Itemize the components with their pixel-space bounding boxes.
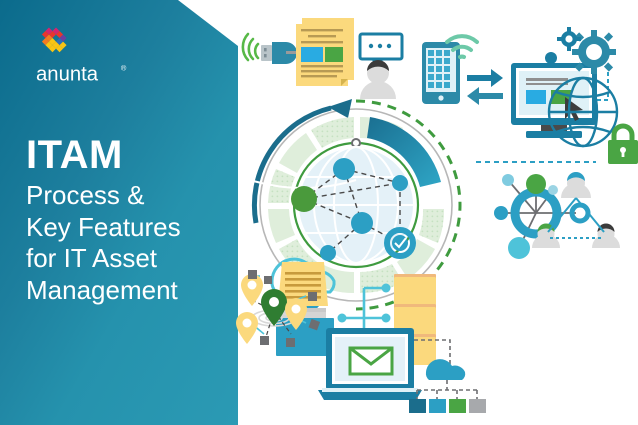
endpoint-2: [429, 399, 446, 413]
node-green: [291, 186, 317, 212]
node-bottom: [320, 245, 336, 261]
wordmark-text: anunta: [36, 63, 99, 85]
infographic-canvas: anunta ® ITAM Process & Key Features for…: [0, 0, 638, 425]
title-panel: anunta ® ITAM Process & Key Features for…: [0, 0, 238, 425]
headline-block: ITAM Process & Key Features for IT Asset…: [26, 134, 232, 306]
hub-node-2: [548, 185, 558, 195]
lifecycle-arrow-head: [328, 99, 352, 118]
exchange-arrows-icon: [467, 69, 503, 105]
page-title: ITAM: [26, 134, 232, 176]
hub-node-3: [494, 206, 508, 220]
laptop-email-icon: [318, 328, 422, 400]
documents-report-icon: [296, 18, 354, 86]
map-pin-yellow-2: [236, 312, 258, 344]
illustration-svg: [236, 0, 638, 425]
node-top: [333, 158, 355, 180]
illustration-area: [236, 0, 638, 425]
envelope-icon: [350, 348, 392, 374]
folder-1: [394, 274, 436, 305]
hub-node-green: [526, 174, 546, 194]
globe-nodes-graphic: [250, 147, 414, 263]
subtitle-line-1: Process &: [26, 180, 232, 211]
brand-logo[interactable]: anunta ®: [36, 26, 166, 86]
endpoint-1: [409, 399, 426, 413]
anunta-logo-mark-icon: [36, 26, 76, 60]
hub-node-1: [502, 174, 514, 186]
anunta-wordmark: anunta ®: [36, 62, 147, 86]
subtitle-line-3: for IT Asset: [26, 243, 232, 274]
subtitle-line-2: Key Features: [26, 212, 232, 243]
user-avatar-icon: [360, 60, 396, 99]
hub-node-ring: [572, 205, 588, 221]
registered-mark: ®: [121, 63, 127, 72]
hub-node-4: [508, 237, 530, 259]
node-right: [392, 175, 408, 191]
endpoint-4: [469, 399, 486, 413]
endpoint-3: [449, 399, 466, 413]
subtitle-line-4: Management: [26, 275, 232, 306]
node-center: [351, 212, 373, 234]
gear-dot-icon: [545, 52, 557, 64]
lifecycle-start-dot: [352, 139, 360, 147]
